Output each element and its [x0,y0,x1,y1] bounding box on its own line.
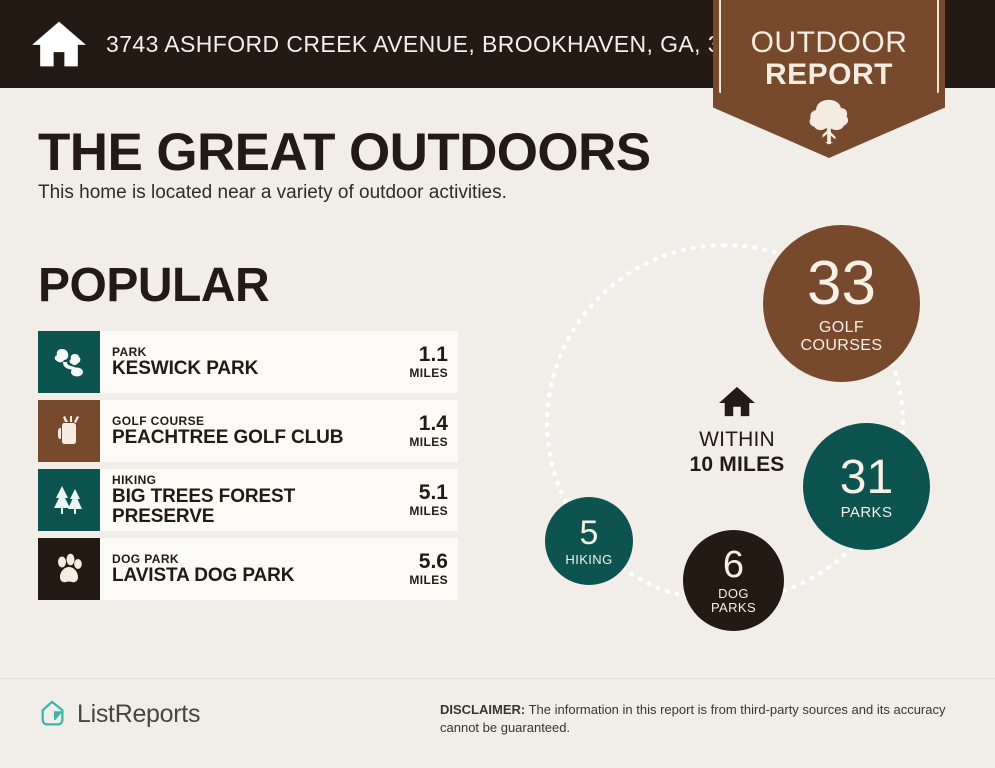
list-item-text: HIKING BIG TREES FOREST PRESERVE [100,469,380,531]
list-item-category: GOLF COURSE [112,414,380,428]
bubble-label-line1: HIKING [565,553,612,566]
within-line2: 10 MILES [657,452,817,477]
list-item-distance: 1.1 MILES [380,331,458,393]
bubble-value: 5 [580,516,599,550]
list-item-name: LAVISTA DOG PARK [112,566,380,586]
amenities-bubble-chart: 33 GOLF COURSES 31 PARKS 6 DOG PARKS 5 H… [515,225,985,655]
list-item-icon-tile [38,469,100,531]
list-item-category: DOG PARK [112,552,380,566]
list-item-category: HIKING [112,473,380,487]
listreports-logo[interactable]: ListReports [38,699,200,729]
list-item-text: PARK KESWICK PARK [100,331,380,393]
bubble-parks: 31 PARKS [803,423,930,550]
within-line1: WITHIN [657,427,817,452]
disclaimer-label: DISCLAIMER: [440,702,525,717]
popular-list: PARK KESWICK PARK 1.1 MILES GOLF COURSE [38,331,458,607]
within-radius-label: WITHIN 10 MILES [657,385,817,477]
list-item-icon-tile [38,331,100,393]
bubble-label-line1: GOLF [819,319,864,337]
list-item-distance-unit: MILES [409,504,448,518]
list-item[interactable]: DOG PARK LAVISTA DOG PARK 5.6 MILES [38,538,458,600]
list-item-distance-value: 1.4 [419,413,448,435]
property-address: 3743 ASHFORD CREEK AVENUE, BROOKHAVEN, G… [106,31,774,58]
bubble-value: 33 [807,253,876,315]
popular-heading: POPULAR [38,258,269,313]
list-item-name: KESWICK PARK [112,359,380,379]
list-item-text: GOLF COURSE PEACHTREE GOLF CLUB [100,400,380,462]
list-item-icon-tile [38,538,100,600]
bubble-dog-parks: 6 DOG PARKS [683,530,784,631]
outdoor-report-page: 3743 ASHFORD CREEK AVENUE, BROOKHAVEN, G… [0,0,995,768]
bubble-label-line2: COURSES [801,337,883,355]
list-item[interactable]: PARK KESWICK PARK 1.1 MILES [38,331,458,393]
outdoor-report-badge: OUTDOOR REPORT [713,0,945,158]
page-title: THE GREAT OUTDOORS [38,122,650,183]
logo-text: ListReports [77,700,200,729]
pine-trees-icon [51,482,87,518]
badge-line1: OUTDOOR [713,26,945,60]
list-item-distance-value: 1.1 [419,344,448,366]
bubble-label-line1: PARKS [841,505,893,520]
bubble-value: 6 [723,546,744,584]
list-item[interactable]: GOLF COURSE PEACHTREE GOLF CLUB 1.4 MILE… [38,400,458,462]
list-item[interactable]: HIKING BIG TREES FOREST PRESERVE 5.1 MIL… [38,469,458,531]
list-item-distance-value: 5.6 [419,551,448,573]
park-trees-icon [51,344,87,380]
list-item-distance-value: 5.1 [419,482,448,504]
list-item-name: PEACHTREE GOLF CLUB [112,428,380,448]
bubble-value: 31 [840,454,893,502]
bubble-label-line2: PARKS [711,601,756,615]
badge-line2: REPORT [713,58,945,92]
disclaimer: DISCLAIMER: The information in this repo… [440,701,960,737]
bubble-golf-courses: 33 GOLF COURSES [763,225,920,382]
list-item-distance: 5.6 MILES [380,538,458,600]
list-item-distance-unit: MILES [409,366,448,380]
tree-icon [806,98,852,146]
bubble-hiking: 5 HIKING [545,497,633,585]
listreports-house-tag-icon [38,699,68,729]
house-icon [718,385,756,419]
list-item-text: DOG PARK LAVISTA DOG PARK [100,538,380,600]
list-item-distance: 5.1 MILES [380,469,458,531]
bubble-label-line1: DOG [718,587,749,601]
footer: ListReports DISCLAIMER: The information … [0,678,995,768]
page-subtitle: This home is located near a variety of o… [38,182,507,204]
list-item-distance-unit: MILES [409,573,448,587]
list-item-distance-unit: MILES [409,435,448,449]
list-item-name: BIG TREES FOREST PRESERVE [112,487,380,527]
list-item-distance: 1.4 MILES [380,400,458,462]
house-icon [30,18,88,70]
paw-print-icon [51,551,87,587]
list-item-category: PARK [112,345,380,359]
golf-bag-icon [51,413,87,449]
list-item-icon-tile [38,400,100,462]
